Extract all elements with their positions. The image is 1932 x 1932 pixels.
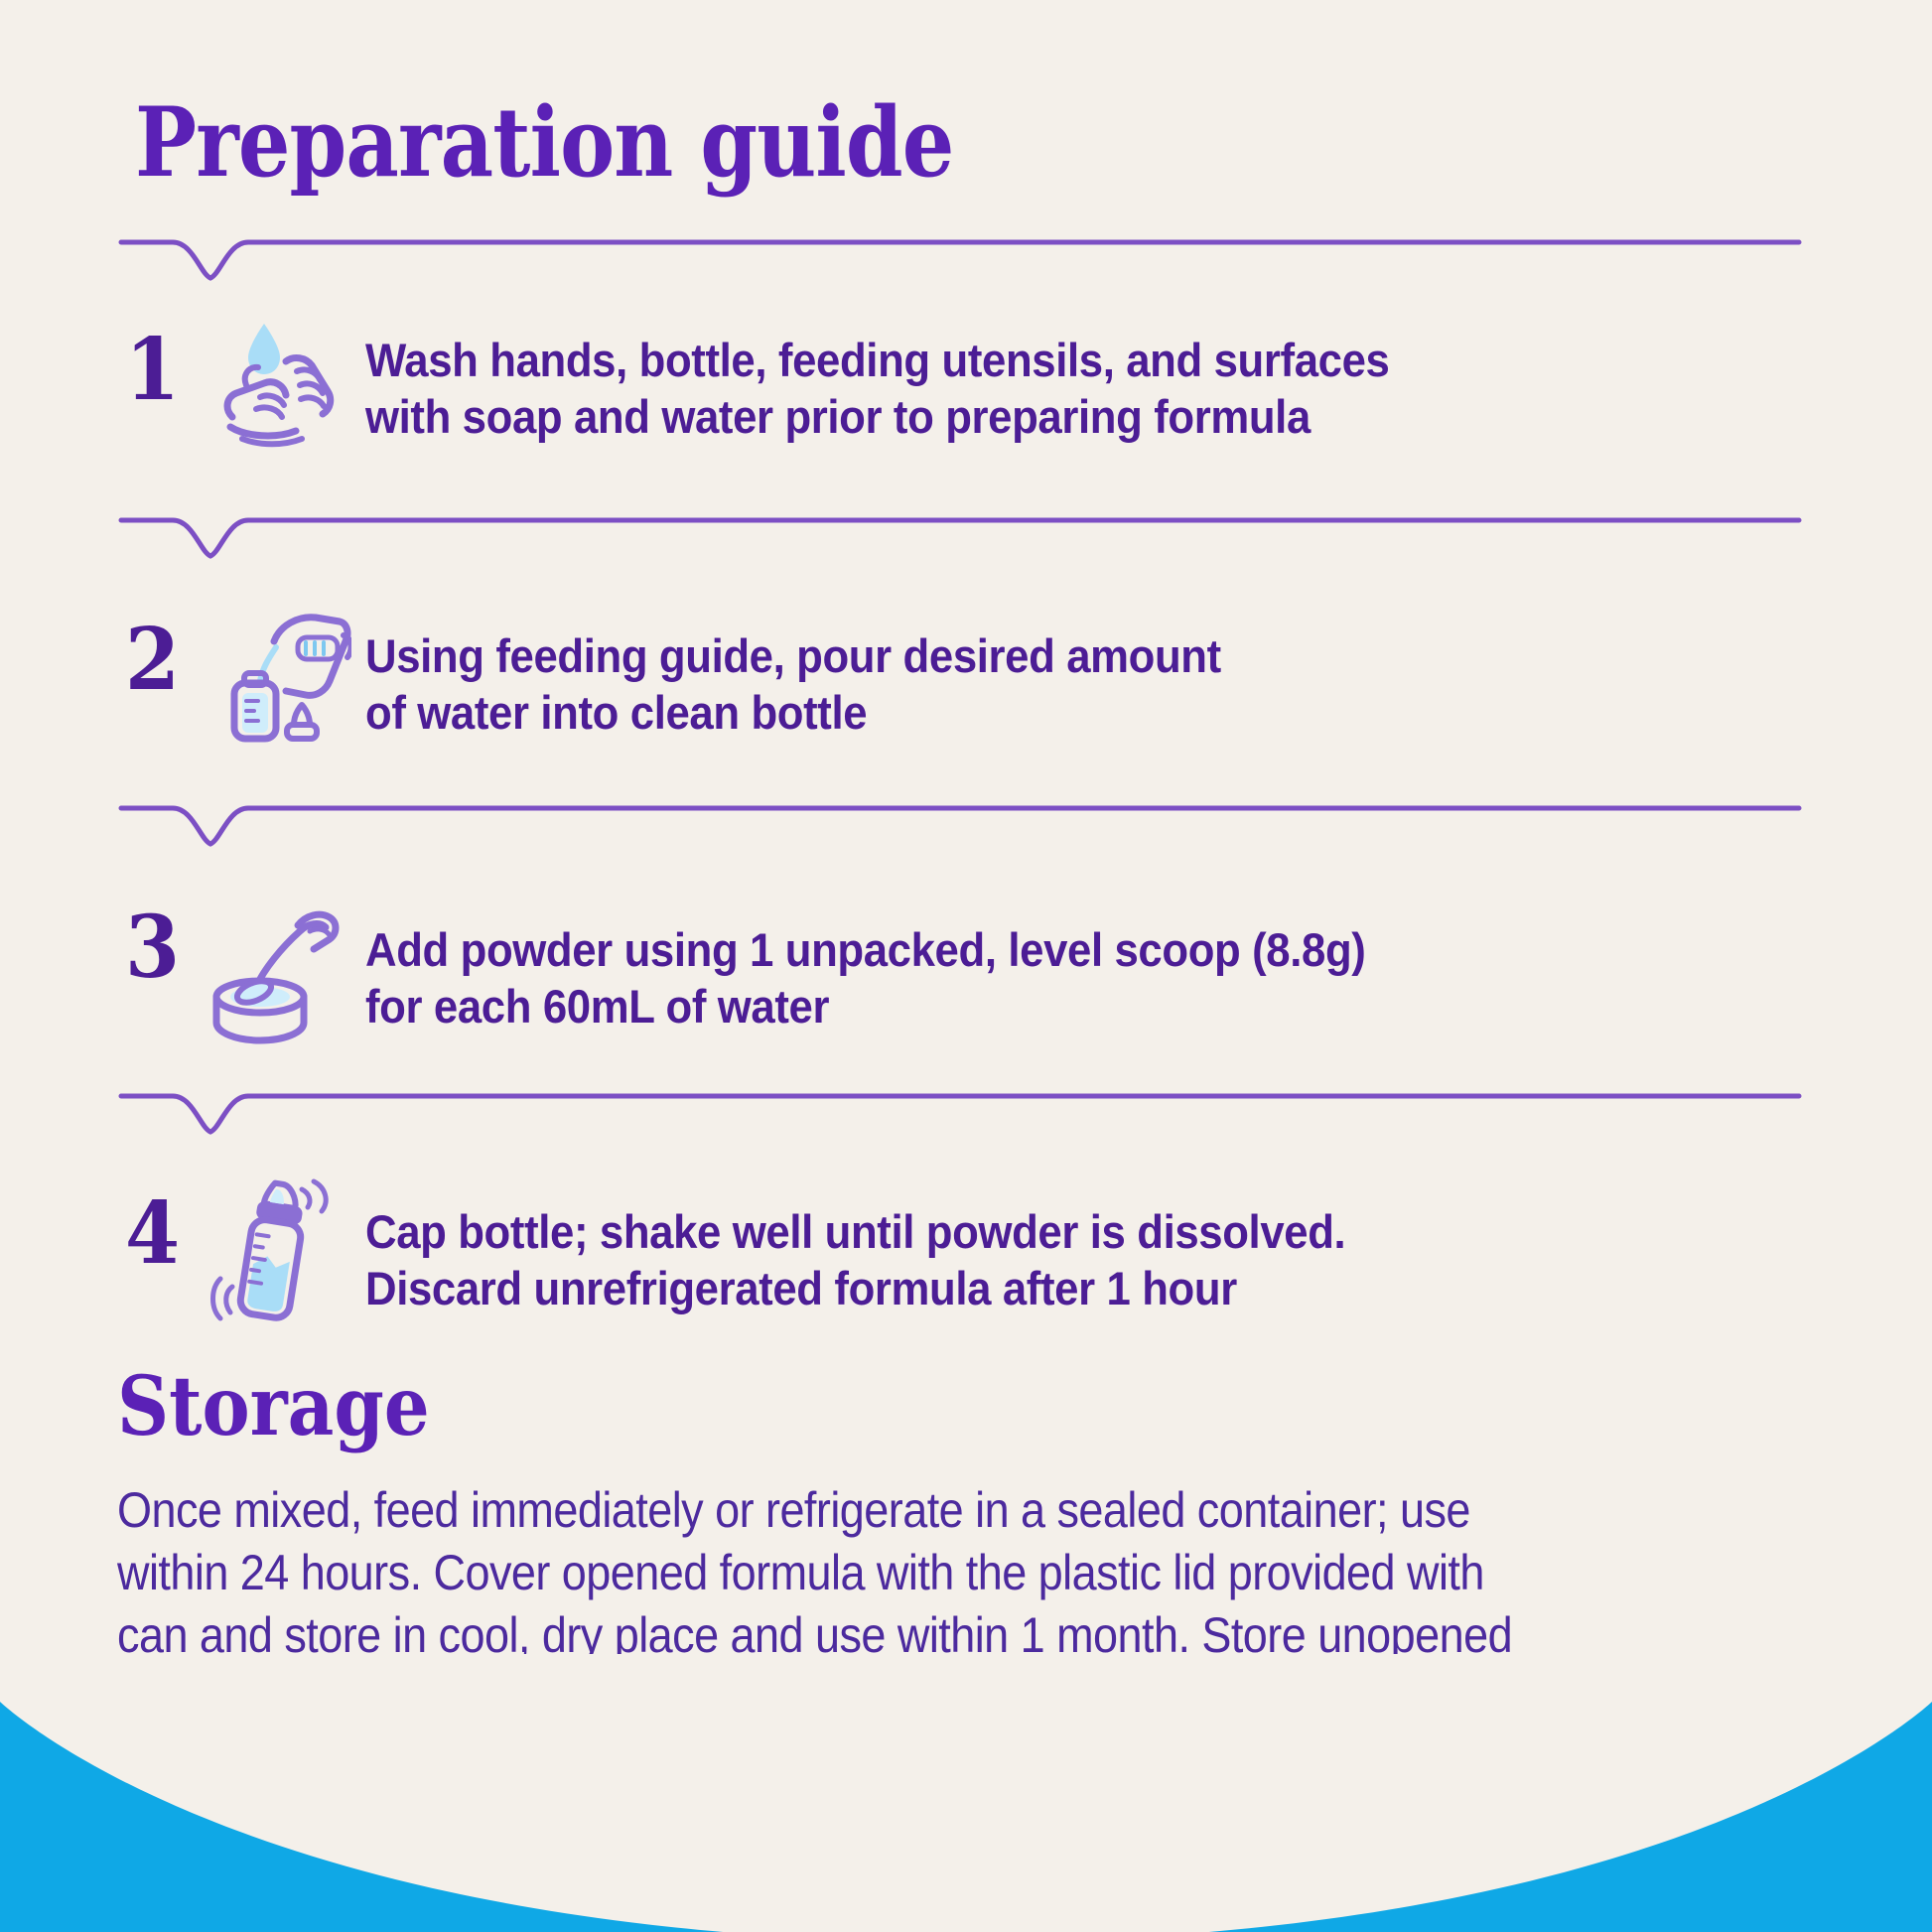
step-number-4: 4 xyxy=(125,1191,197,1277)
step-block-1: 1 xyxy=(0,234,1932,479)
step-row-1: 1 xyxy=(0,304,1932,479)
step-divider-4 xyxy=(121,1088,1799,1134)
step-row-2: 2 xyxy=(0,596,1932,770)
step-text-1: Wash hands, bottle, feeding utensils, an… xyxy=(365,328,1593,446)
step-text-2-line-1: Using feeding guide, pour desired amount xyxy=(365,627,1593,684)
step-block-4: 4 xyxy=(0,1088,1932,1348)
step-row-3: 3 xyxy=(0,884,1932,1062)
step-text-1-line-2: with soap and water prior to preparing f… xyxy=(365,388,1593,445)
step-text-1-line-1: Wash hands, bottle, feeding utensils, an… xyxy=(365,332,1593,388)
page-title: Preparation guide xyxy=(135,95,953,191)
shaking-bottle-icon xyxy=(203,1175,351,1324)
step-text-3: Add powder using 1 unpacked, level scoop… xyxy=(365,917,1593,1035)
step-divider-1 xyxy=(121,234,1799,280)
step-divider-2 xyxy=(121,512,1799,558)
scoop-powder-icon xyxy=(203,896,351,1044)
step-text-2: Using feeding guide, pour desired amount… xyxy=(365,623,1593,742)
step-text-4-line-2: Discard unrefrigerated formula after 1 h… xyxy=(365,1260,1593,1316)
step-number-2: 2 xyxy=(125,618,197,703)
step-text-2-line-2: of water into clean bottle xyxy=(365,684,1593,741)
step-text-3-line-2: for each 60mL of water xyxy=(365,978,1593,1035)
washing-hands-icon xyxy=(203,306,351,455)
step-block-3: 3 xyxy=(0,800,1932,1062)
step-text-3-line-1: Add powder using 1 unpacked, level scoop… xyxy=(365,921,1593,978)
step-divider-3 xyxy=(121,800,1799,846)
storage-title: Storage xyxy=(117,1366,1620,1448)
step-number-1: 1 xyxy=(125,328,197,413)
steps-list: 1 xyxy=(0,234,1932,1348)
step-text-4: Cap bottle; shake well until powder is d… xyxy=(365,1199,1593,1317)
bottom-wave-decoration xyxy=(0,1654,1932,1932)
step-row-4: 4 xyxy=(0,1170,1932,1348)
storage-body-line-1: Once mixed, feed immediately or refriger… xyxy=(117,1479,1815,1542)
pouring-water-into-bottle-icon xyxy=(203,602,351,751)
preparation-guide-page: Preparation guide 1 xyxy=(0,0,1932,1932)
step-text-4-line-1: Cap bottle; shake well until powder is d… xyxy=(365,1203,1593,1260)
step-number-3: 3 xyxy=(125,905,197,991)
storage-body-line-2: within 24 hours. Cover opened formula wi… xyxy=(117,1542,1815,1604)
step-block-2: 2 xyxy=(0,512,1932,770)
